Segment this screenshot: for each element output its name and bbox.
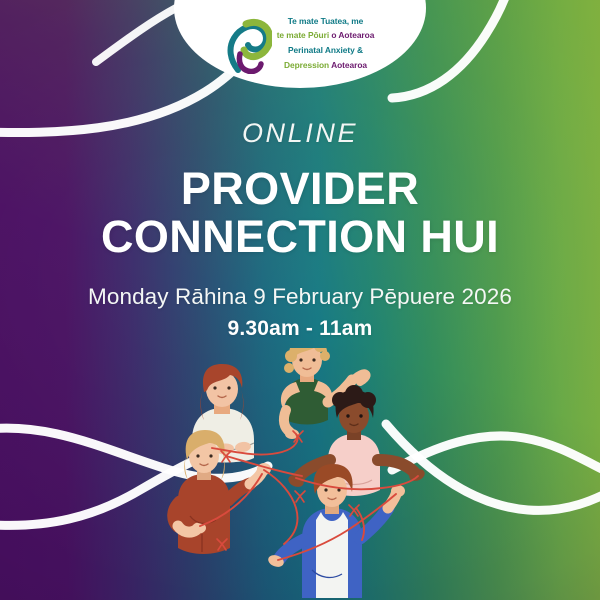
logo-english-line-1: Perinatal Anxiety & <box>288 45 363 55</box>
event-time: 9.30am - 11am <box>0 317 600 341</box>
logo-badge: Te mate Tuatea, me te mate Pōuri o Aotea… <box>174 0 426 88</box>
title-line-1: PROVIDER <box>0 165 600 213</box>
logo-english-line-2b: Aotearoa <box>331 60 367 70</box>
kicker-online: ONLINE <box>0 118 600 149</box>
event-date: Monday Rāhina 9 February Pēpuere 2026 <box>0 284 600 310</box>
koru-swirl-mark <box>226 14 272 74</box>
person-bottom-right <box>267 464 405 598</box>
illustration-five-people <box>150 348 470 600</box>
logo-maori-line-2b: o Aotearoa <box>331 30 374 40</box>
poster: Te mate Tuatea, me te mate Pōuri o Aotea… <box>0 0 600 600</box>
title-line-2: CONNECTION HUI <box>0 213 600 261</box>
poster-content: ONLINE PROVIDER CONNECTION HUI Monday Rā… <box>0 118 600 341</box>
person-bottom-left <box>174 430 271 554</box>
logo-maori-line-1: Te mate Tuatea, me <box>288 16 364 26</box>
logo-english-line-2a: Depression <box>284 60 331 70</box>
page-title: PROVIDER CONNECTION HUI <box>0 165 600 261</box>
logo-maori-line-2a: te mate Pōuri <box>277 30 332 40</box>
